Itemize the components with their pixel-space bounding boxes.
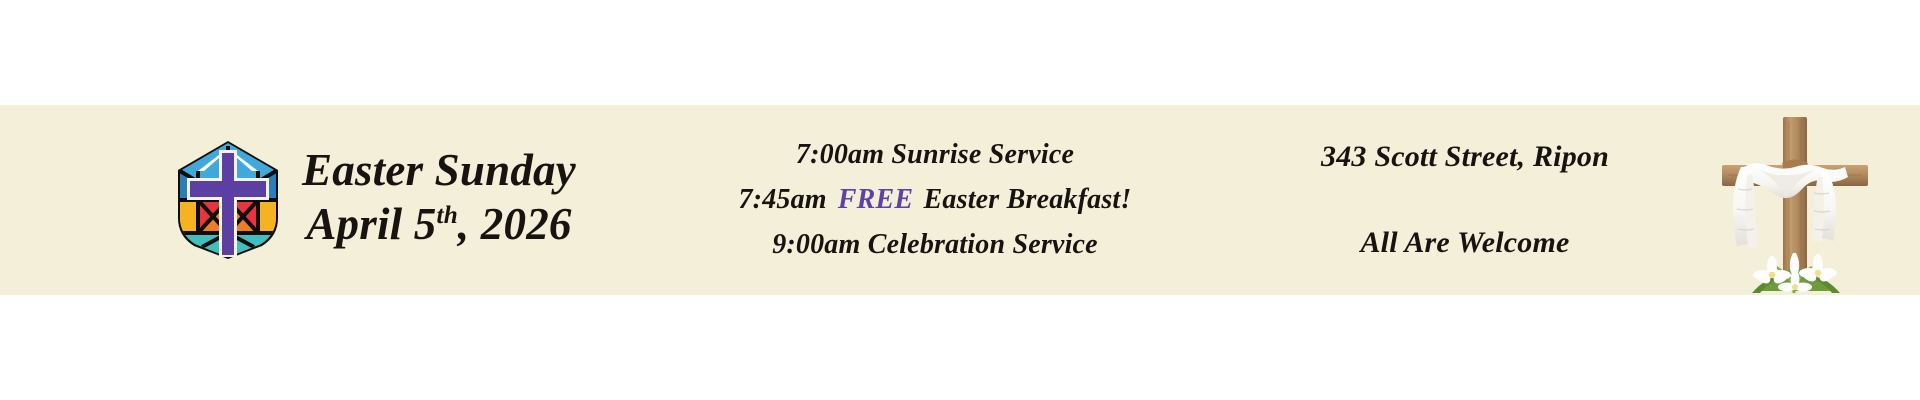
service-line-sunrise: 7:00am Sunrise Service [796, 141, 1074, 169]
date-ordinal-suffix: th [437, 202, 458, 229]
free-badge: FREE [835, 184, 917, 215]
service-time-sunrise: 7:00am [796, 139, 884, 170]
service-name-celebration: Celebration Service [868, 229, 1098, 260]
service-times-column: 7:00am Sunrise Service 7:45amFREE Easter… [700, 105, 1170, 295]
service-time-celebration: 9:00am [772, 229, 860, 260]
service-name-breakfast: Easter Breakfast! [924, 184, 1132, 215]
easter-service-banner: Easter Sunday April 5th, 2026 7:00am Sun… [0, 0, 1920, 400]
headline-date: April 5th, 2026 [302, 200, 576, 250]
lily-cluster [1752, 253, 1840, 293]
location-column: 343 Scott Street, Ripon All Are Welcome [1245, 105, 1685, 295]
headline-easter-sunday: Easter Sunday [302, 148, 576, 194]
welcome-message: All Are Welcome [1360, 228, 1569, 258]
stained-glass-cross-logo [168, 138, 288, 262]
service-time-breakfast: 7:45am [738, 184, 826, 215]
brand-column: Easter Sunday April 5th, 2026 [168, 105, 576, 295]
service-line-celebration: 9:00am Celebration Service [772, 231, 1098, 259]
service-name-sunrise: Sunrise Service [891, 139, 1074, 170]
headline-block: Easter Sunday April 5th, 2026 [302, 148, 576, 251]
draped-cross-with-lilies-artwork [1700, 105, 1890, 295]
date-year: , 2026 [458, 199, 572, 249]
church-address: 343 Scott Street, Ripon [1321, 142, 1609, 172]
service-line-breakfast: 7:45amFREE Easter Breakfast! [738, 186, 1131, 214]
date-month-day: April 5 [306, 199, 436, 249]
